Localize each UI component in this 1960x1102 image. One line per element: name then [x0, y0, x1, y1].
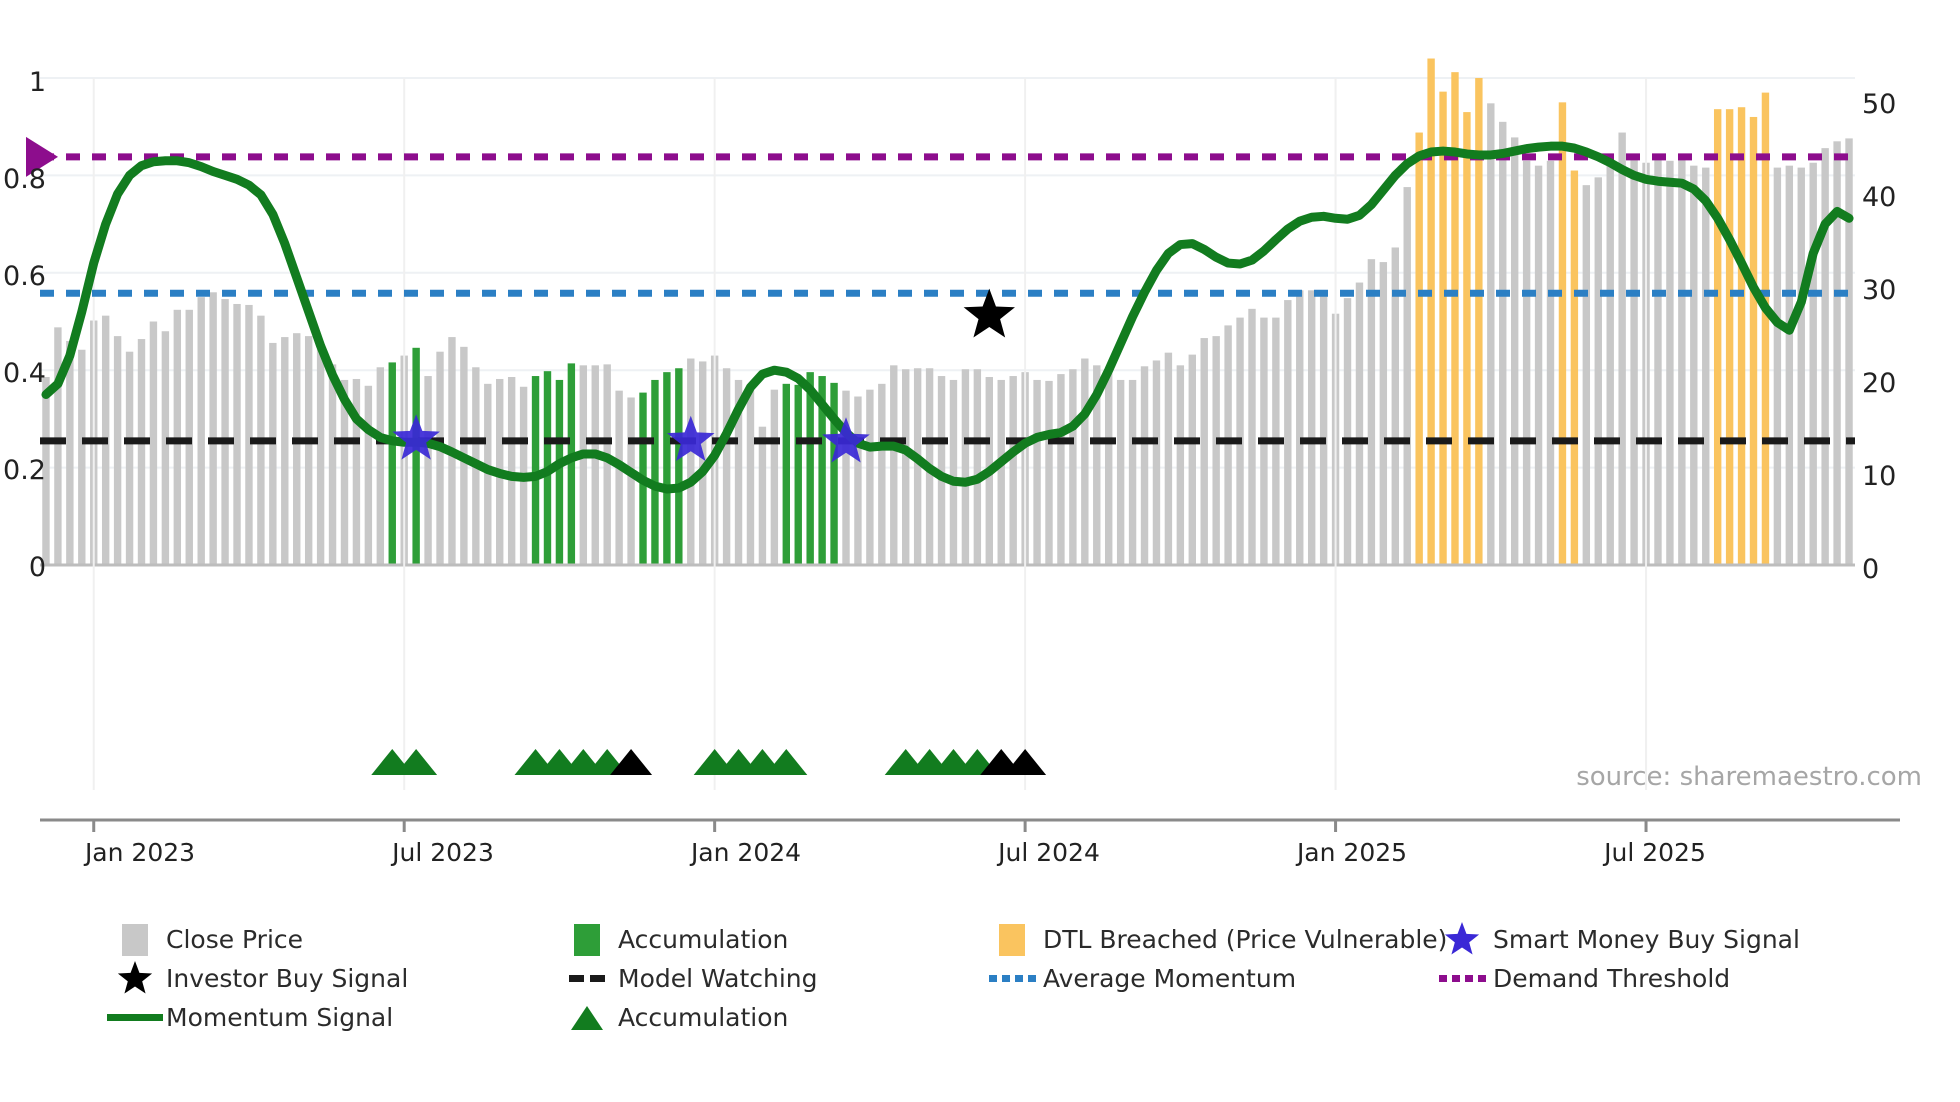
- legend-item-label: Accumulation: [618, 925, 788, 954]
- star-swatch: [1442, 920, 1482, 960]
- demand-threshold-swatch-icon: [1431, 975, 1493, 982]
- legend-item-label: Demand Threshold: [1493, 964, 1730, 993]
- close-price-bar: [1069, 369, 1076, 565]
- close-price-bar: [317, 348, 324, 565]
- close-price-bar: [1583, 185, 1590, 565]
- close-price-bar: [1702, 168, 1709, 565]
- close-price-bar: [1033, 380, 1040, 565]
- dash-swatch: [569, 975, 605, 982]
- dtl-breached-bar: [1463, 112, 1470, 565]
- close-price-bar: [1212, 336, 1219, 565]
- close-price-bar: [508, 377, 515, 565]
- legend-item-accumulation[interactable]: Accumulation: [556, 920, 981, 959]
- close-price-bar: [759, 427, 766, 565]
- y-axis-right-tick-0: 0: [1862, 554, 1879, 585]
- dtl-breached-bar: [1439, 92, 1446, 565]
- y-axis-right-tick-4: 40: [1862, 182, 1896, 213]
- close-price-bar: [854, 396, 861, 565]
- dtl-breached-bar: [1762, 93, 1769, 565]
- close-price-bar: [1786, 166, 1793, 565]
- close-price-bar: [365, 386, 372, 565]
- dot-segment: [1478, 975, 1486, 982]
- swatch: [999, 924, 1025, 956]
- close-price-bar: [1308, 290, 1315, 565]
- dtl-breached-bar: [1738, 107, 1745, 565]
- close-price-bar: [1165, 353, 1172, 565]
- chart-canvas: 0 0.2 0.4 0.6 0.8 1 0 10 20 30 40 50 Jan…: [0, 0, 1960, 1102]
- close-price-bar: [1630, 158, 1637, 565]
- legend-item-label: Investor Buy Signal: [166, 964, 408, 993]
- close-price-bar: [1618, 133, 1625, 565]
- y-axis-left-tick-3: 0.6: [0, 261, 46, 292]
- accumulation-bar: [651, 380, 658, 565]
- close-price-bar: [424, 376, 431, 565]
- x-axis-tick-jan-2024: Jan 2024: [646, 838, 846, 867]
- accumulation-triangle-swatch-icon: [556, 1001, 618, 1035]
- close-price-bar: [1595, 177, 1602, 565]
- close-price-bar: [281, 337, 288, 565]
- legend-item-label: Average Momentum: [1043, 964, 1296, 993]
- dot-segment: [1028, 975, 1036, 982]
- accumulation-bar: [795, 385, 802, 565]
- close-price-bar: [627, 397, 634, 565]
- close-price-bar: [66, 341, 73, 565]
- close-price-bar: [1380, 262, 1387, 565]
- smart-money-star-swatch-icon: [1431, 920, 1493, 960]
- investor-star-swatch-icon: [104, 959, 166, 999]
- close-price-bar: [687, 359, 694, 565]
- close-price-bar: [1690, 166, 1697, 565]
- close-price-bar: [233, 304, 240, 565]
- close-price-bar: [1523, 161, 1530, 565]
- model-watching-swatch-icon: [556, 975, 618, 982]
- source-attribution: source: sharemaestro.com: [1576, 762, 1922, 792]
- close-price-bar: [377, 367, 384, 565]
- dtl-breached-bar: [1451, 72, 1458, 565]
- close-price-bar: [1224, 325, 1231, 565]
- dash-segment: [590, 975, 605, 982]
- legend-item-close-price[interactable]: Close Price: [104, 920, 556, 959]
- legend-item-label: Model Watching: [618, 964, 818, 993]
- close-price-bar: [1499, 122, 1506, 565]
- close-price-bar: [1607, 156, 1614, 565]
- close-price-bar: [1153, 360, 1160, 565]
- close-price-bar: [771, 390, 778, 565]
- close-price-bar: [305, 336, 312, 565]
- momentum-line-swatch-icon: [104, 1014, 166, 1021]
- close-price-bar: [436, 352, 443, 565]
- triangle-swatch: [568, 1001, 606, 1035]
- dtl-breached-bar: [1415, 133, 1422, 565]
- legend-row: Investor Buy SignalModel WatchingAverage…: [104, 959, 1924, 998]
- close-price-bar: [1009, 376, 1016, 565]
- swatch: [574, 924, 600, 956]
- legend-row: Close PriceAccumulationDTL Breached (Pri…: [104, 920, 1924, 959]
- legend-item-accumulation[interactable]: Accumulation: [556, 998, 981, 1037]
- legend-row: Momentum SignalAccumulation: [104, 998, 1924, 1037]
- close-price-bar: [54, 327, 61, 565]
- legend-item-label: DTL Breached (Price Vulnerable): [1043, 925, 1447, 954]
- dot-segment: [1465, 975, 1473, 982]
- y-axis-left-tick-0: 0: [0, 552, 46, 583]
- accumulation-bar: [663, 372, 670, 565]
- close-price-bar: [1774, 168, 1781, 565]
- close-price-bar: [1833, 141, 1840, 565]
- close-price-bar: [592, 365, 599, 565]
- close-price-bar: [1547, 161, 1554, 565]
- legend-item-dtl-breached-price-vulnerable[interactable]: DTL Breached (Price Vulnerable): [981, 920, 1431, 959]
- legend-item-label: Smart Money Buy Signal: [1493, 925, 1800, 954]
- accumulation-bar: [568, 363, 575, 565]
- dot-segment: [1439, 975, 1447, 982]
- dot-segment: [1002, 975, 1010, 982]
- close-price-bar: [1821, 148, 1828, 565]
- legend-item-momentum-signal[interactable]: Momentum Signal: [104, 998, 556, 1037]
- dotted-swatch: [989, 975, 1036, 982]
- close-price-bar: [138, 339, 145, 565]
- close-price-bar: [1248, 309, 1255, 565]
- accumulation-triangle-markers: [371, 749, 1046, 775]
- y-axis-left-tick-1: 0.2: [0, 455, 46, 486]
- dtl-breached-bar: [1571, 171, 1578, 565]
- dot-segment: [989, 975, 997, 982]
- accumulation-bar-swatch-icon: [556, 924, 618, 956]
- dtl-breached-bar: [1427, 59, 1434, 565]
- close-price-bar: [209, 292, 216, 565]
- x-axis-tick-jul-2023: Jul 2023: [343, 838, 543, 867]
- close-price-bar: [197, 297, 204, 565]
- close-price-bar: [1344, 298, 1351, 565]
- dotted-swatch: [1439, 975, 1486, 982]
- close-price-bar: [1654, 158, 1661, 565]
- close-price-bar: [1141, 366, 1148, 565]
- close-price-bar: [878, 384, 885, 565]
- close-price-bar: [1296, 290, 1303, 565]
- accumulation-bar: [675, 368, 682, 565]
- close-price-bar: [974, 369, 981, 565]
- close-price-bar: [221, 299, 228, 565]
- y-axis-left-tick-5: 1: [0, 67, 46, 98]
- close-price-bar: [1081, 359, 1088, 565]
- close-price-bars: [42, 59, 1852, 565]
- dtl-breached-bar: [1750, 117, 1757, 565]
- x-axis-tick-jul-2024: Jul 2024: [949, 838, 1149, 867]
- close-price-bar: [1666, 161, 1673, 565]
- y-axis-right-tick-2: 20: [1862, 368, 1896, 399]
- close-price-bar: [950, 380, 957, 565]
- average-momentum-swatch-icon: [981, 975, 1043, 982]
- x-axis-tick-jul-2025: Jul 2025: [1555, 838, 1755, 867]
- close-price-bar: [126, 352, 133, 565]
- close-price-bar: [78, 350, 85, 565]
- legend-item-label: Accumulation: [618, 1003, 788, 1032]
- legend-item-smart-money-buy-signal[interactable]: Smart Money Buy Signal: [1431, 920, 1871, 959]
- close-price-bar: [1045, 381, 1052, 565]
- close-price-bar: [902, 369, 909, 565]
- legend-item-label: Momentum Signal: [166, 1003, 393, 1032]
- close-price-bar: [269, 343, 276, 565]
- close-price-bar: [1845, 138, 1852, 565]
- dot-segment: [1015, 975, 1023, 982]
- close-price-bar: [1511, 137, 1518, 565]
- legend-item-demand-threshold[interactable]: Demand Threshold: [1431, 959, 1871, 998]
- close-price-bar: [1678, 157, 1685, 565]
- legend-item-average-momentum[interactable]: Average Momentum: [981, 959, 1431, 998]
- close-price-bar: [723, 368, 730, 565]
- y-axis-right-tick-1: 10: [1862, 461, 1896, 492]
- dtl-breached-bar: [1714, 109, 1721, 565]
- close-price-bar: [293, 333, 300, 565]
- y-axis-left-tick-4: 0.8: [0, 164, 46, 195]
- close-price-bar: [1798, 168, 1805, 565]
- y-axis-right-tick-3: 30: [1862, 275, 1896, 306]
- close-price-bar: [1117, 380, 1124, 565]
- close-price-swatch-icon: [104, 924, 166, 956]
- close-price-bar: [998, 380, 1005, 565]
- close-price-bar: [615, 391, 622, 565]
- close-price-bar: [1105, 371, 1112, 565]
- close-price-bar: [890, 365, 897, 565]
- dash-segment: [569, 975, 584, 982]
- close-price-bar: [1189, 355, 1196, 565]
- accumulation-bar: [556, 380, 563, 565]
- accumulation-bar: [389, 362, 396, 565]
- dtl-breached-bar: [1726, 109, 1733, 565]
- x-axis-tick-jan-2025: Jan 2025: [1252, 838, 1452, 867]
- accumulation-bar: [412, 348, 419, 565]
- y-axis-left-tick-2: 0.4: [0, 358, 46, 389]
- close-price-bar: [162, 331, 169, 565]
- close-price-bar: [1368, 259, 1375, 565]
- dtl-breached-bar: [1559, 102, 1566, 565]
- close-price-bar: [1535, 166, 1542, 565]
- close-price-bar: [1404, 187, 1411, 565]
- close-price-bar: [1356, 283, 1363, 565]
- close-price-bar: [150, 322, 157, 566]
- close-price-bar: [1810, 163, 1817, 565]
- close-price-bar: [329, 364, 336, 565]
- close-price-bar: [580, 365, 587, 565]
- close-price-bar: [114, 336, 121, 565]
- close-price-bar: [1487, 103, 1494, 565]
- close-price-bar: [1177, 365, 1184, 565]
- close-price-bar: [603, 364, 610, 565]
- legend-item-model-watching[interactable]: Model Watching: [556, 959, 981, 998]
- legend-item-investor-buy-signal[interactable]: Investor Buy Signal: [104, 959, 556, 998]
- close-price-bar: [747, 390, 754, 565]
- chart-legend: Close PriceAccumulationDTL Breached (Pri…: [104, 920, 1924, 1037]
- dot-segment: [1452, 975, 1460, 982]
- close-price-bar: [245, 305, 252, 565]
- close-price-bar: [866, 390, 873, 565]
- accumulation-bar: [806, 372, 813, 565]
- close-price-bar: [1129, 380, 1136, 565]
- line-swatch: [107, 1014, 163, 1021]
- close-price-bar: [1284, 300, 1291, 565]
- close-price-bar: [842, 391, 849, 565]
- close-price-bar: [1057, 374, 1064, 565]
- legend-item-label: Close Price: [166, 925, 303, 954]
- close-price-bar: [1320, 294, 1327, 565]
- dtl-breached-swatch-icon: [981, 924, 1043, 956]
- close-price-bar: [1201, 338, 1208, 565]
- star-swatch: [115, 959, 155, 999]
- close-price-bar: [962, 369, 969, 565]
- swatch: [122, 924, 148, 956]
- x-axis-tick-jan-2023: Jan 2023: [40, 838, 240, 867]
- accumulation-bar: [783, 384, 790, 565]
- y-axis-right-tick-5: 50: [1862, 89, 1896, 120]
